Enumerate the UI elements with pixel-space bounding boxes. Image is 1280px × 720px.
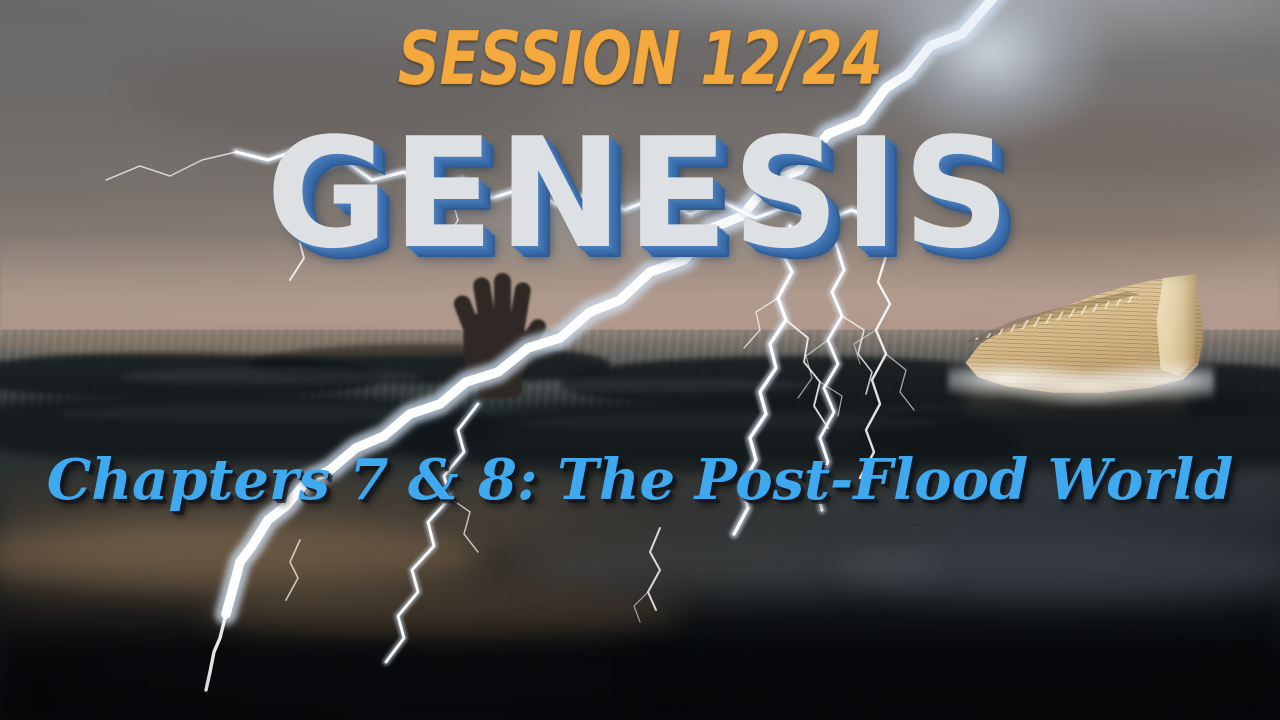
wave-crest	[120, 368, 420, 384]
wave-crest	[520, 414, 940, 430]
slide-canvas: SESSION 12/24 GENESIS Chapters 7 & 8: Th…	[0, 0, 1280, 720]
page-title: GENESIS	[13, 118, 1267, 270]
hand-wrist	[477, 363, 523, 399]
session-kicker: SESSION 12/24	[128, 22, 1152, 96]
session-kicker-text: SESSION 12/24	[398, 22, 883, 96]
ark-icon	[958, 262, 1208, 402]
page-subtitle: Chapters 7 & 8: The Post-Flood World	[0, 452, 1280, 508]
water-streak	[60, 648, 660, 718]
water-streak	[840, 536, 1280, 600]
ark-reflection	[966, 388, 1186, 418]
hand-icon	[440, 264, 558, 392]
wave-crest	[60, 404, 440, 422]
